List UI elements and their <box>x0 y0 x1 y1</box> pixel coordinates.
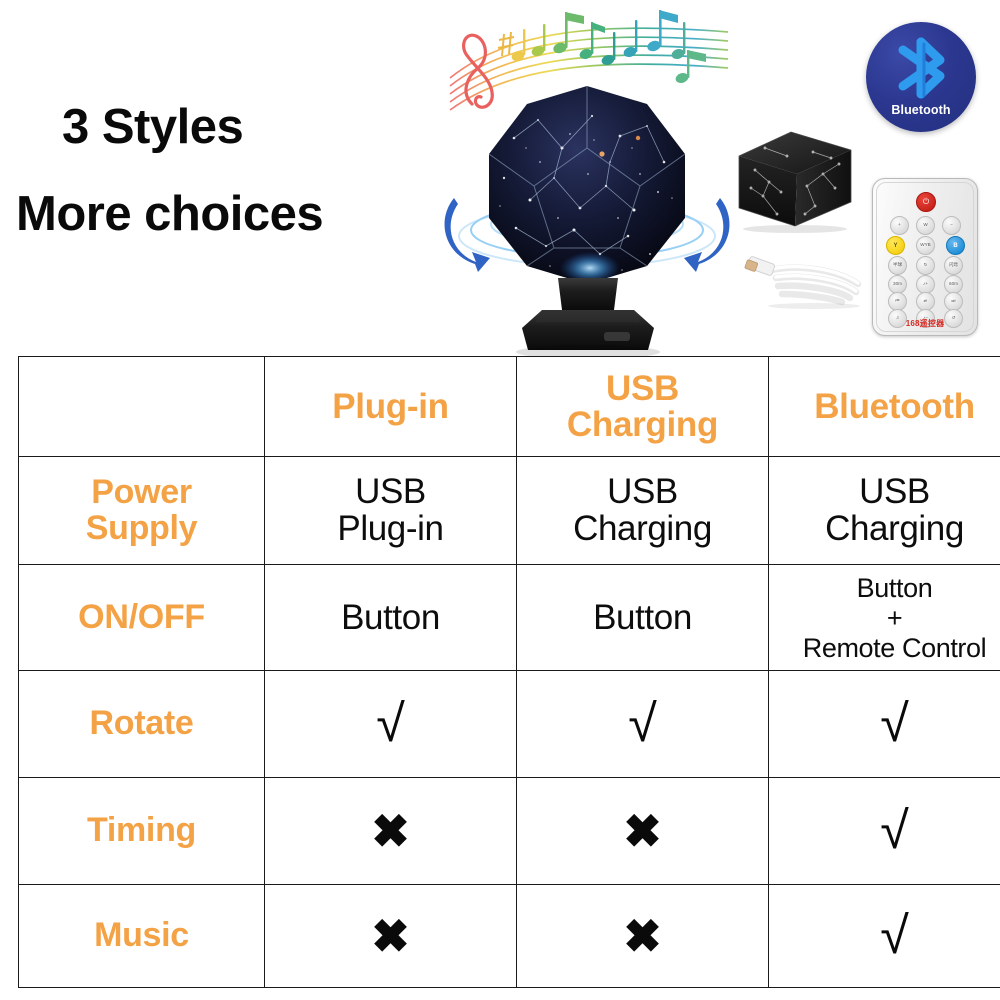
cell-timing-bluetooth-check: √ <box>769 777 1000 884</box>
usb-cable <box>742 248 872 310</box>
cell-onoff-bluetooth-line2: + <box>773 603 1000 633</box>
remote-button-power[interactable]: ⏻ <box>916 192 936 212</box>
table-row-timing: Timing ✖ ✖ √ <box>19 777 1000 884</box>
table-row-rotate: Rotate √ √ √ <box>19 671 1000 777</box>
cell-rotate-usb-check: √ <box>517 671 769 777</box>
remote-button-flash[interactable]: 闪烁 <box>944 256 963 275</box>
row-label-rotate: Rotate <box>19 671 265 777</box>
cell-music-usb-cross: ✖ <box>517 884 769 987</box>
row-label-power-supply: Power Supply <box>19 457 265 565</box>
cell-music-bluetooth-check: √ <box>769 884 1000 987</box>
row-label-power-supply-line1: Power <box>23 475 260 511</box>
table-corner-cell <box>19 357 265 457</box>
remote-button-wyb[interactable]: WYB <box>916 236 935 255</box>
cell-power-supply-usb-line1: USB <box>521 474 764 510</box>
hero-banner: 3 Styles More choices <box>0 0 1000 355</box>
row-label-onoff: ON/OFF <box>19 565 265 671</box>
remote-button-white[interactable]: W <box>916 216 935 235</box>
bluetooth-badge: Bluetooth <box>866 22 976 132</box>
cell-rotate-bluetooth-check: √ <box>769 671 1000 777</box>
row-label-music: Music <box>19 884 265 987</box>
remote-button-rotate[interactable]: ↻ <box>916 256 935 275</box>
table-header-plugin: Plug-in <box>265 357 517 457</box>
remote-model-label: 168遥控器 <box>872 318 978 329</box>
table-row-onoff: ON/OFF Button Button Button + Remote Con… <box>19 565 1000 671</box>
star-projector-lamp <box>442 78 732 358</box>
cell-power-supply-plugin-line2: Plug-in <box>269 511 512 547</box>
remote-button-brightness-down[interactable]: − <box>942 216 961 235</box>
remote-control: ⏻ + W − Y WYB B 半球 ↻ 闪烁 30m ♪+ 60m ⏮ ⏯ ⏭… <box>872 178 978 336</box>
row-label-timing: Timing <box>19 777 265 884</box>
cell-power-supply-bluetooth-line2: Charging <box>773 511 1000 547</box>
headline-primary: 3 Styles <box>62 103 243 152</box>
cell-power-supply-plugin-line1: USB <box>269 474 512 510</box>
cell-onoff-plugin: Button <box>265 565 517 671</box>
table-row-power-supply: Power Supply USB Plug-in USB Charging US… <box>19 457 1000 565</box>
cell-onoff-bluetooth-line1: Button <box>773 573 1000 603</box>
remote-button-brightness-up[interactable]: + <box>890 216 909 235</box>
table-header-usb-charging-line2: Charging <box>521 407 764 443</box>
cell-power-supply-plugin: USB Plug-in <box>265 457 517 565</box>
remote-button-blue[interactable]: B <box>946 236 965 255</box>
table-header-usb-charging: USB Charging <box>517 357 769 457</box>
cell-power-supply-usb-line2: Charging <box>521 511 764 547</box>
cell-onoff-usb: Button <box>517 565 769 671</box>
remote-button-yellow[interactable]: Y <box>886 236 905 255</box>
cell-power-supply-bluetooth: USB Charging <box>769 457 1000 565</box>
table-row-music: Music ✖ ✖ √ <box>19 884 1000 987</box>
table-header-bluetooth: Bluetooth <box>769 357 1000 457</box>
table-header-row: Plug-in USB Charging Bluetooth <box>19 357 1000 457</box>
cell-power-supply-usb: USB Charging <box>517 457 769 565</box>
remote-button-hemisphere[interactable]: 半球 <box>888 256 907 275</box>
cell-timing-usb-cross: ✖ <box>517 777 769 884</box>
cell-onoff-bluetooth-line3: Remote Control <box>773 633 1000 663</box>
bluetooth-badge-label: Bluetooth <box>866 103 976 117</box>
comparison-table: Plug-in USB Charging Bluetooth Power Sup… <box>18 356 1000 988</box>
cell-power-supply-bluetooth-line1: USB <box>773 474 1000 510</box>
cell-timing-plugin-cross: ✖ <box>265 777 517 884</box>
cell-onoff-bluetooth: Button + Remote Control <box>769 565 1000 671</box>
table-header-usb-charging-line1: USB <box>521 371 764 407</box>
row-label-power-supply-line2: Supply <box>23 511 260 547</box>
headline-secondary: More choices <box>16 190 323 239</box>
cell-music-plugin-cross: ✖ <box>265 884 517 987</box>
gift-box <box>735 126 855 234</box>
cell-rotate-plugin-check: √ <box>265 671 517 777</box>
